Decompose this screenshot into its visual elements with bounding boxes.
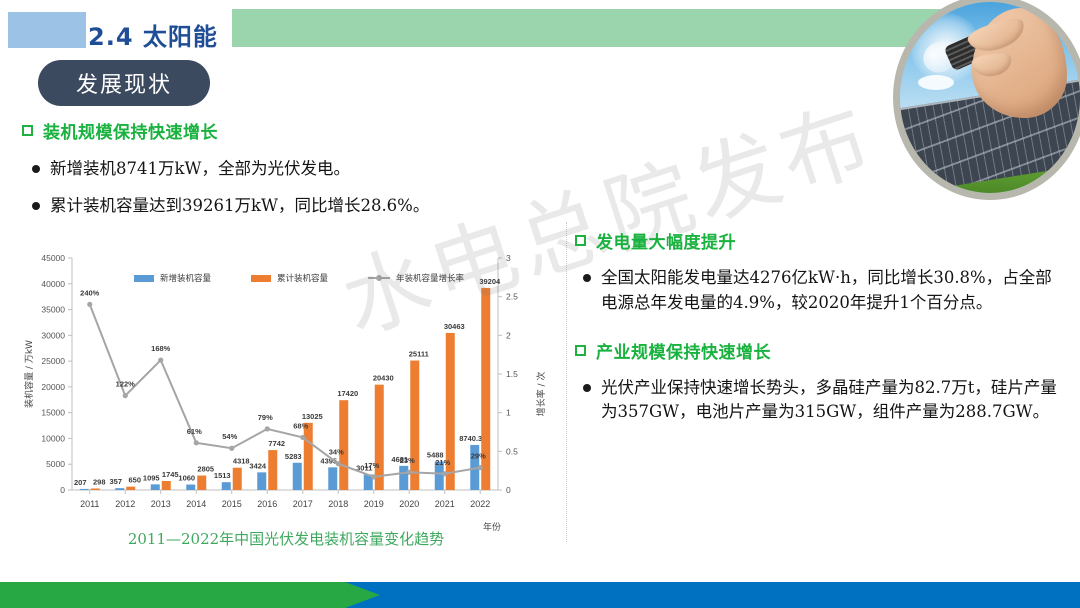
bar-label-cumulative-capacity: 4318 xyxy=(233,457,250,466)
section-heading-generation: 发电量大幅度提升 xyxy=(575,228,1065,253)
line-label-growth-rate: 23% xyxy=(400,456,415,465)
y-tick-label-left: 0 xyxy=(60,485,65,495)
list-item-text: 新增装机8741万kW，全部为光伏发电。 xyxy=(50,157,350,182)
line-label-growth-rate: 21% xyxy=(435,458,450,467)
line-point-growth-rate xyxy=(407,470,412,475)
section-heading-installed-capacity: 装机规模保持快速增长 xyxy=(22,118,562,143)
bar-label-cumulative-capacity: 298 xyxy=(93,477,106,486)
page-title: 2.4 太阳能 xyxy=(88,17,218,52)
line-point-growth-rate xyxy=(336,461,341,466)
line-label-growth-rate: 240% xyxy=(80,288,100,297)
x-tick-label: 2016 xyxy=(257,499,277,509)
line-point-growth-rate xyxy=(123,393,128,398)
line-point-growth-rate xyxy=(158,357,163,362)
line-label-growth-rate: 122% xyxy=(116,380,136,389)
y-tick-label-left: 30000 xyxy=(41,330,65,340)
bullet-dot-icon xyxy=(32,202,40,210)
y-axis-title-left: 装机容量 / 万kW xyxy=(23,340,35,408)
photo-cloud xyxy=(918,75,954,90)
bar-label-new-capacity: 207 xyxy=(74,478,87,487)
section-heading-label: 发电量大幅度提升 xyxy=(596,228,736,253)
bar-cumulative-capacity xyxy=(304,423,313,490)
x-tick-label: 2013 xyxy=(151,499,171,509)
chart-legend: 新增装机容量累计装机容量年装机容量增长率 xyxy=(134,272,464,284)
header-accent-block xyxy=(8,12,86,48)
legend-item: 新增装机容量 xyxy=(134,272,211,284)
list-item-text: 全国太阳能发电量达4276亿kW·h，同比增长30.8%，占全部电源总年发电量的… xyxy=(601,266,1065,316)
y-tick-label-left: 40000 xyxy=(41,279,65,289)
bar-label-cumulative-capacity: 7742 xyxy=(268,439,285,448)
line-label-growth-rate: 34% xyxy=(329,448,344,457)
bar-cumulative-capacity xyxy=(197,476,206,490)
line-point-growth-rate xyxy=(442,471,447,476)
line-point-growth-rate xyxy=(371,474,376,479)
bar-label-cumulative-capacity: 17420 xyxy=(337,389,358,398)
chart-installed-capacity-trend: 新增装机容量累计装机容量年装机容量增长率 0500010000150002000… xyxy=(16,240,556,540)
list-item-text: 光伏产业保持快速增长势头，多晶硅产量为82.7万t，硅片产量为357GW，电池片… xyxy=(601,376,1065,426)
bar-label-new-capacity: 8740.3 xyxy=(459,434,482,443)
bullet-dot-icon xyxy=(583,274,591,282)
bar-new-capacity xyxy=(257,472,266,490)
y-tick-label-right: 2 xyxy=(506,330,511,340)
y-tick-label-right: 2.5 xyxy=(506,292,518,302)
bar-label-cumulative-capacity: 30463 xyxy=(444,322,465,331)
bar-new-capacity xyxy=(115,488,124,490)
bar-cumulative-capacity xyxy=(410,361,419,490)
section-heading-label: 装机规模保持快速增长 xyxy=(43,118,218,143)
line-point-growth-rate xyxy=(478,465,483,470)
bullet-dot-icon xyxy=(32,165,40,173)
bar-new-capacity xyxy=(399,466,408,490)
bar-label-cumulative-capacity: 2805 xyxy=(197,465,214,474)
bar-new-capacity xyxy=(80,489,89,490)
footer-bar xyxy=(0,582,1080,608)
bar-cumulative-capacity xyxy=(268,450,277,490)
bar-label-cumulative-capacity: 39204 xyxy=(479,277,501,286)
legend-label: 年装机容量增长率 xyxy=(396,272,464,284)
y-tick-label-left: 15000 xyxy=(41,408,65,418)
left-bullet-list: 新增装机8741万kW，全部为光伏发电。 累计装机容量达到39261万kW，同比… xyxy=(22,157,562,219)
y-tick-label-right: 3 xyxy=(506,253,511,263)
square-bullet-icon xyxy=(575,235,586,246)
bar-label-new-capacity: 3424 xyxy=(249,461,267,470)
legend-line-marker xyxy=(368,277,390,279)
y-tick-label-left: 35000 xyxy=(41,305,65,315)
legend-item: 年装机容量增长率 xyxy=(368,272,464,284)
y-tick-label-left: 20000 xyxy=(41,382,65,392)
bar-cumulative-capacity xyxy=(339,400,348,490)
line-label-growth-rate: 61% xyxy=(187,427,202,436)
list-item: 累计装机容量达到39261万kW，同比增长28.6%。 xyxy=(32,194,562,219)
bar-label-new-capacity: 1060 xyxy=(178,474,195,483)
bar-label-cumulative-capacity: 20430 xyxy=(373,374,394,383)
column-divider xyxy=(566,222,567,542)
bar-cumulative-capacity xyxy=(233,468,242,490)
list-item: 新增装机8741万kW，全部为光伏发电。 xyxy=(32,157,562,182)
list-item: 光伏产业保持快速增长势头，多晶硅产量为82.7万t，硅片产量为357GW，电池片… xyxy=(575,376,1065,426)
list-item: 全国太阳能发电量达4276亿kW·h，同比增长30.8%，占全部电源总年发电量的… xyxy=(575,266,1065,316)
right-content-column: 发电量大幅度提升 全国太阳能发电量达4276亿kW·h，同比增长30.8%，占全… xyxy=(575,228,1065,425)
bar-label-cumulative-capacity: 13025 xyxy=(302,412,323,421)
line-label-growth-rate: 17% xyxy=(364,461,379,470)
bar-new-capacity xyxy=(186,485,195,490)
line-point-growth-rate xyxy=(229,446,234,451)
bar-cumulative-capacity xyxy=(375,385,384,490)
line-point-growth-rate xyxy=(300,435,305,440)
x-tick-label: 2017 xyxy=(293,499,313,509)
x-tick-label: 2015 xyxy=(222,499,242,509)
line-point-growth-rate xyxy=(194,440,199,445)
section-heading-label: 产业规模保持快速增长 xyxy=(596,338,771,363)
x-tick-label: 2012 xyxy=(115,499,135,509)
line-label-growth-rate: 168% xyxy=(151,344,171,353)
footer-green-arrow xyxy=(0,582,380,608)
y-tick-label-left: 10000 xyxy=(41,433,65,443)
list-item-text: 累计装机容量达到39261万kW，同比增长28.6%。 xyxy=(50,194,429,219)
bar-label-cumulative-capacity: 650 xyxy=(128,476,141,485)
bar-new-capacity xyxy=(151,484,160,490)
y-tick-label-right: 0.5 xyxy=(506,446,518,456)
line-label-growth-rate: 29% xyxy=(471,452,486,461)
x-tick-label: 2021 xyxy=(435,499,455,509)
bar-label-cumulative-capacity: 25111 xyxy=(409,350,429,359)
bar-label-new-capacity: 1095 xyxy=(143,473,160,482)
bar-label-new-capacity: 1513 xyxy=(214,471,231,480)
bullet-dot-icon xyxy=(583,384,591,392)
x-tick-label: 2020 xyxy=(399,499,419,509)
x-tick-label: 2022 xyxy=(470,499,490,509)
bar-label-cumulative-capacity: 1745 xyxy=(162,470,179,479)
chart-caption: 2011—2022年中国光伏发电装机容量变化趋势 xyxy=(16,528,556,549)
legend-color-swatch xyxy=(251,275,271,282)
x-tick-label: 2011 xyxy=(80,499,99,509)
legend-label: 新增装机容量 xyxy=(160,272,211,284)
bar-new-capacity xyxy=(222,482,231,490)
line-point-growth-rate xyxy=(265,426,270,431)
legend-label: 累计装机容量 xyxy=(277,272,328,284)
line-label-growth-rate: 79% xyxy=(258,413,273,422)
chart-canvas: 0500010000150002000025000300003500040000… xyxy=(16,240,556,540)
y-axis-title-right: 增长率 / 次 xyxy=(535,372,547,417)
x-tick-label: 2018 xyxy=(328,499,348,509)
section-heading-industry: 产业规模保持快速增长 xyxy=(575,338,1065,363)
line-label-growth-rate: 68% xyxy=(293,421,308,430)
x-tick-label: 2014 xyxy=(186,499,206,509)
y-tick-label-left: 5000 xyxy=(46,459,65,469)
bar-cumulative-capacity xyxy=(91,488,100,490)
bar-label-new-capacity: 5283 xyxy=(285,452,302,461)
y-tick-label-left: 25000 xyxy=(41,356,65,366)
square-bullet-icon xyxy=(22,125,33,136)
line-point-growth-rate xyxy=(87,302,92,307)
legend-item: 累计装机容量 xyxy=(251,272,328,284)
bar-cumulative-capacity xyxy=(162,481,171,490)
status-badge: 发展现状 xyxy=(38,60,210,106)
left-content-column: 装机规模保持快速增长 新增装机8741万kW，全部为光伏发电。 累计装机容量达到… xyxy=(22,118,562,219)
bar-new-capacity xyxy=(328,467,337,490)
x-tick-label: 2019 xyxy=(364,499,384,509)
status-badge-label: 发展现状 xyxy=(76,67,172,99)
bar-label-new-capacity: 357 xyxy=(109,477,122,486)
y-tick-label-right: 0 xyxy=(506,485,511,495)
bar-cumulative-capacity xyxy=(126,487,135,490)
square-bullet-icon xyxy=(575,345,586,356)
hero-photo-solar-bulb xyxy=(893,0,1080,200)
y-tick-label-left: 45000 xyxy=(41,253,65,263)
legend-color-swatch xyxy=(134,275,154,282)
y-tick-label-right: 1.5 xyxy=(506,369,518,379)
line-label-growth-rate: 54% xyxy=(222,432,237,441)
y-tick-label-right: 1 xyxy=(506,408,511,418)
bar-new-capacity xyxy=(293,463,302,490)
